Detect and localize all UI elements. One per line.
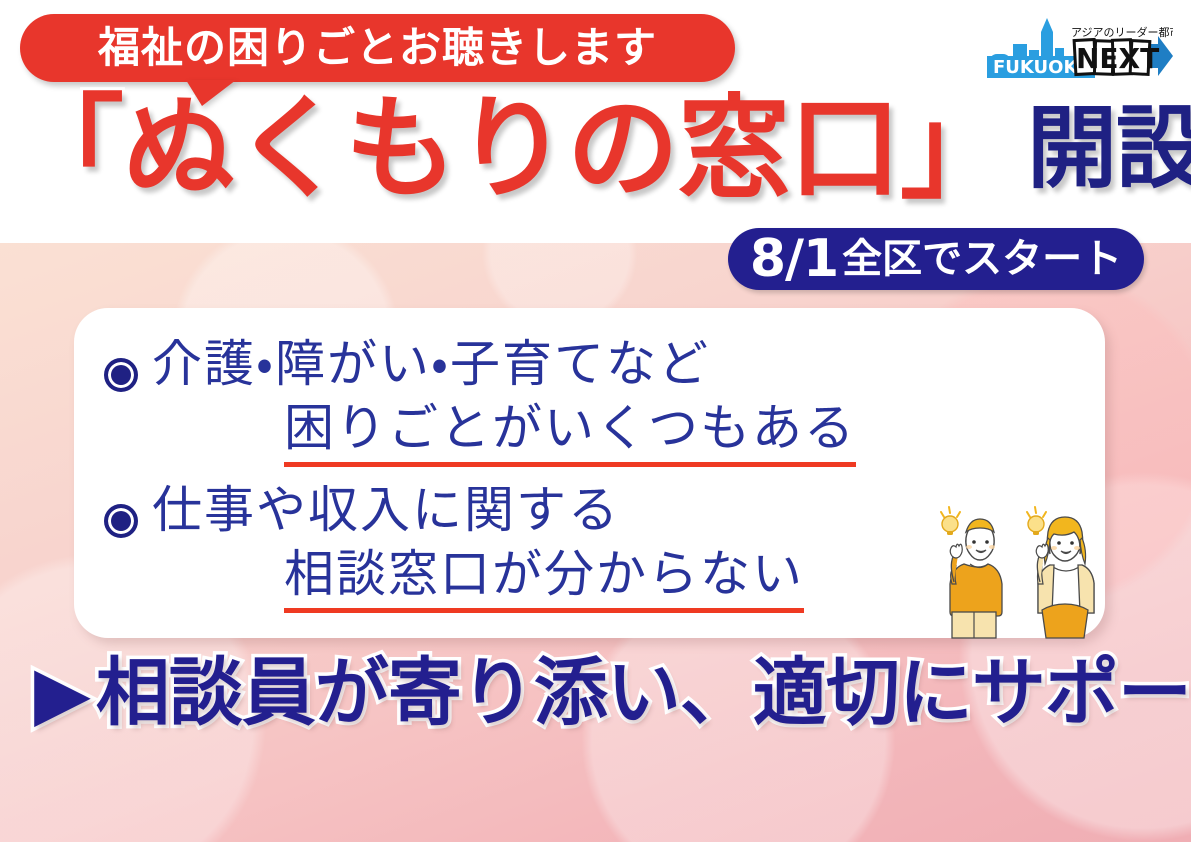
svg-text:NEXT: NEXT [1076,42,1159,75]
man-character-icon [941,507,1002,638]
logo-tagline: アジアのリーダー都市へ [1071,25,1173,39]
lightbulb-icon-woman [1027,507,1046,535]
character-illustrations [930,498,1115,640]
bullet-2-line-2: 相談窓口が分からない [284,542,804,613]
headline-speech-bubble-text: 福祉の困りごとお聴きします [98,27,657,69]
main-title-red-part: 「ぬくもりの窓口」 [12,93,1011,205]
main-title-blue-part: 開設！ [1027,104,1191,194]
list-item: 仕事や収入に関する 相談窓口が分からない [104,478,804,613]
bullet-1-line-2: 困りごとがいくつもある [284,396,856,467]
list-item: 介護・障がい・子育てなど 困りごとがいくつもある [104,332,856,467]
start-date-badge: 8/1 全区でスタート [728,228,1144,290]
poster-root: 福祉の困りごとお聴きします 「ぬくもりの窓口」 開設！ FUKUOKA アジアの… [0,0,1191,842]
fukuoka-next-logo: FUKUOKA アジアのリーダー都市へ NEXT [983,14,1173,86]
main-title: 「ぬくもりの窓口」 開設！ [12,86,1182,211]
bullet-circle-icon [104,358,138,392]
bullet-1-line-1: 介護・障がい・子育てなど [152,332,856,396]
bottom-banner-arrow: ▶ [34,656,90,730]
bottom-banner: ▶ 相談員が寄り添い、適切にサポート [0,645,1191,741]
bullet-circle-icon [104,504,138,538]
woman-character-icon [1027,507,1094,638]
bottom-banner-text: 相談員が寄り添い、適切にサポート [96,656,1191,730]
start-date-detail: 全区でスタート [842,239,1122,279]
next-wordmark: NEXT [1074,39,1159,75]
bullet-2-line-1: 仕事や収入に関する [152,478,804,542]
start-date-value: 8/1 [750,233,838,285]
lightbulb-icon-man [941,507,960,535]
headline-speech-bubble: 福祉の困りごとお聴きします [20,14,735,82]
